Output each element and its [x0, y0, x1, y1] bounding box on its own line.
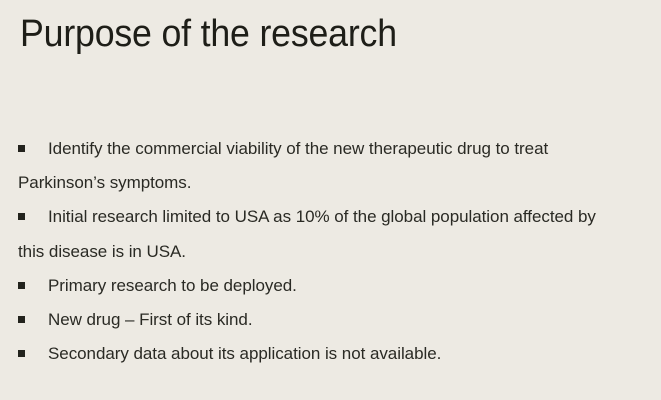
square-bullet-icon — [18, 316, 25, 323]
list-item: Primary research to be deployed. — [18, 269, 618, 303]
list-item-text: Identify the commercial viability of the… — [18, 139, 548, 192]
list-item: Secondary data about its application is … — [18, 337, 618, 371]
list-item-text: New drug – First of its kind. — [48, 310, 253, 329]
list-item-text: Initial research limited to USA as 10% o… — [18, 207, 596, 260]
list-item-text: Primary research to be deployed. — [48, 276, 297, 295]
list-item-text: Secondary data about its application is … — [48, 344, 441, 363]
list-item: Initial research limited to USA as 10% o… — [18, 200, 618, 268]
square-bullet-icon — [18, 350, 25, 357]
page-title: Purpose of the research — [20, 11, 397, 57]
square-bullet-icon — [18, 282, 25, 289]
list-item: New drug – First of its kind. — [18, 303, 618, 337]
square-bullet-icon — [18, 145, 25, 152]
bullet-list: Identify the commercial viability of the… — [18, 132, 618, 371]
square-bullet-icon — [18, 213, 25, 220]
list-item: Identify the commercial viability of the… — [18, 132, 618, 200]
slide: Purpose of the research Identify the com… — [0, 0, 661, 400]
